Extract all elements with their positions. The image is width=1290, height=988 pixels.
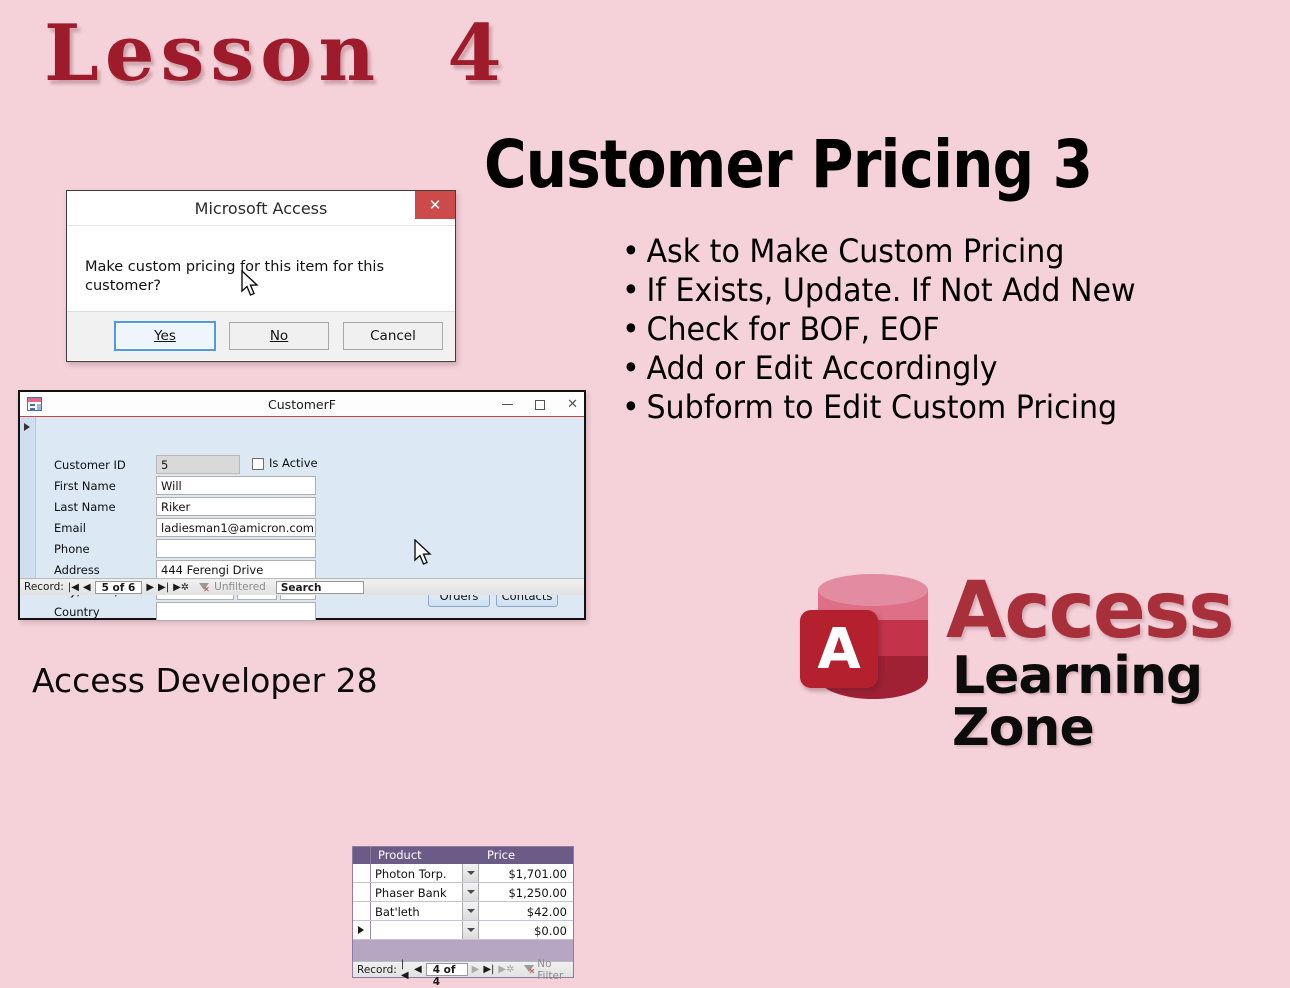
cell-product[interactable] <box>371 921 462 939</box>
record-label: Record: <box>357 964 397 976</box>
bullet-list: •Ask to Make Custom Pricing •If Exists, … <box>622 232 1168 427</box>
filter-status[interactable]: ✕ No Filter <box>524 958 573 982</box>
table-row[interactable]: Photon Torp. $1,701.00 <box>353 864 573 883</box>
cancel-button[interactable]: Cancel <box>343 322 443 350</box>
last-record-icon[interactable]: ▶| <box>483 964 494 975</box>
cancel-button-label: Cancel <box>370 328 416 344</box>
no-button-label: No <box>270 328 288 344</box>
cell-price[interactable]: $42.00 <box>479 902 573 920</box>
list-item-label: Add or Edit Accordingly <box>646 349 997 387</box>
email-field[interactable]: ladiesman1@amicron.com <box>156 518 316 537</box>
custom-pricing-subform: Product Price Photon Torp. $1,701.00 Pha… <box>352 846 574 978</box>
logo-word-learning-zone: Learning Zone <box>952 650 1270 754</box>
yes-button[interactable]: Yes <box>115 322 215 350</box>
chevron-down-icon[interactable] <box>462 883 479 901</box>
list-item-label: Check for BOF, EOF <box>646 310 939 348</box>
filter-label: No Filter <box>537 958 573 982</box>
new-record-icon[interactable]: ▶✲ <box>173 582 189 593</box>
dialog-title: Microsoft Access <box>195 199 328 218</box>
first-record-icon[interactable]: |◀ <box>68 582 79 593</box>
close-icon[interactable]: ✕ <box>415 191 455 219</box>
label-country: Country <box>54 605 100 619</box>
message-box-dialog: Microsoft Access ✕ Make custom pricing f… <box>66 190 456 362</box>
dialog-body: Make custom pricing for this item for th… <box>67 226 455 312</box>
is-active-label: Is Active <box>269 456 318 470</box>
label-address: Address <box>54 563 100 577</box>
customer-id-field: 5 <box>156 455 240 474</box>
table-row[interactable]: Phaser Bank $1,250.00 <box>353 883 573 902</box>
chevron-down-icon[interactable] <box>462 921 479 939</box>
row-selector[interactable] <box>353 921 371 939</box>
list-item: •Add or Edit Accordingly <box>622 349 1136 388</box>
search-input[interactable]: Search <box>276 581 364 594</box>
list-item-label: Subform to Edit Custom Pricing <box>646 388 1117 426</box>
subform-header-row: Product Price <box>353 847 573 864</box>
label-customer-id: Customer ID <box>54 458 126 472</box>
lesson-title: Lesson 4 <box>44 8 508 99</box>
country-field[interactable] <box>156 602 316 621</box>
filter-icon: ✕ <box>199 582 211 593</box>
filter-status[interactable]: ✕ Unfiltered <box>199 581 266 593</box>
page-title: Customer Pricing 3 <box>484 132 1092 198</box>
access-learning-zone-logo: A Access Learning Zone <box>800 568 1270 718</box>
address-field[interactable]: 444 Ferengi Drive <box>156 560 316 579</box>
cell-price[interactable]: $0.00 <box>479 921 573 939</box>
access-badge-icon: A <box>800 610 878 688</box>
list-item: •Check for BOF, EOF <box>622 310 1136 349</box>
row-selector[interactable] <box>353 883 371 901</box>
label-first-name: First Name <box>54 479 116 493</box>
label-email: Email <box>54 521 86 535</box>
label-last-name: Last Name <box>54 500 116 514</box>
previous-record-icon[interactable]: ◀ <box>414 964 422 975</box>
chevron-down-icon[interactable] <box>462 902 479 920</box>
list-item: •Subform to Edit Custom Pricing <box>622 388 1136 427</box>
dialog-button-row: Yes No Cancel <box>67 312 455 360</box>
bullet-icon: • <box>622 232 646 271</box>
label-phone: Phone <box>54 542 90 556</box>
list-item: •If Exists, Update. If Not Add New <box>622 271 1136 310</box>
phone-field[interactable] <box>156 539 316 558</box>
dialog-message: Make custom pricing for this item for th… <box>85 259 384 294</box>
record-label: Record: <box>24 581 64 593</box>
filter-icon: ✕ <box>524 964 534 975</box>
cell-price[interactable]: $1,250.00 <box>479 883 573 901</box>
column-header-price[interactable]: Price <box>479 847 573 864</box>
dialog-titlebar: Microsoft Access ✕ <box>67 191 455 226</box>
form-record-navigator: Record: |◀ ◀ 5 of 6 ▶ ▶| ▶✲ ✕ Unfiltered… <box>20 578 584 595</box>
last-record-icon[interactable]: ▶| <box>158 582 169 593</box>
cell-product[interactable]: Photon Torp. <box>371 864 462 882</box>
record-selector-bar[interactable] <box>20 417 36 595</box>
new-record-icon[interactable]: ▶✲ <box>498 964 514 975</box>
checkbox-icon <box>252 458 264 470</box>
maximize-icon[interactable] <box>535 400 545 410</box>
first-record-icon[interactable]: |◀ <box>401 959 410 981</box>
form-title: CustomerF <box>20 397 584 412</box>
list-item-label: Ask to Make Custom Pricing <box>646 232 1064 270</box>
yes-button-label: Yes <box>154 328 176 344</box>
list-item-label: If Exists, Update. If Not Add New <box>646 271 1135 309</box>
previous-record-icon[interactable]: ◀ <box>83 582 91 593</box>
record-position[interactable]: 4 of 4 <box>426 963 468 976</box>
form-titlebar: CustomerF ✕ <box>20 392 584 417</box>
filter-label: Unfiltered <box>214 581 266 593</box>
first-name-field[interactable]: Will <box>156 476 316 495</box>
no-button[interactable]: No <box>229 322 329 350</box>
table-row[interactable]: Bat'leth $42.00 <box>353 902 573 921</box>
record-position[interactable]: 5 of 6 <box>95 581 143 594</box>
bullet-icon: • <box>622 271 646 310</box>
next-record-icon[interactable]: ▶ <box>472 964 480 975</box>
cell-product[interactable]: Phaser Bank <box>371 883 462 901</box>
access-form-window: CustomerF ✕ Customer ID First Name Last … <box>18 390 586 620</box>
subform-record-navigator: Record: |◀ ◀ 4 of 4 ▶ ▶| ▶✲ ✕ No Filter <box>353 961 573 977</box>
footer-text: Access Developer 28 <box>32 661 378 700</box>
close-icon[interactable]: ✕ <box>567 398 578 411</box>
minimize-icon[interactable] <box>502 404 513 406</box>
chevron-down-icon[interactable] <box>462 864 479 882</box>
mouse-cursor-icon <box>414 539 434 567</box>
last-name-field[interactable]: Riker <box>156 497 316 516</box>
cell-price[interactable]: $1,701.00 <box>479 864 573 882</box>
next-record-icon[interactable]: ▶ <box>146 582 154 593</box>
cell-product[interactable]: Bat'leth <box>371 902 462 920</box>
bullet-icon: • <box>622 310 646 349</box>
row-selector[interactable] <box>353 902 371 920</box>
window-controls: ✕ <box>502 392 578 417</box>
bullet-icon: • <box>622 388 646 427</box>
list-item: •Ask to Make Custom Pricing <box>622 232 1136 271</box>
logo-word-access: Access <box>946 572 1233 650</box>
table-row[interactable]: $0.00 <box>353 921 573 940</box>
row-selector[interactable] <box>353 864 371 882</box>
form-body: Customer ID First Name Last Name Email P… <box>20 417 584 595</box>
record-selector-arrow-icon <box>24 423 30 431</box>
column-header-product[interactable]: Product <box>371 847 479 864</box>
bullet-icon: • <box>622 349 646 388</box>
